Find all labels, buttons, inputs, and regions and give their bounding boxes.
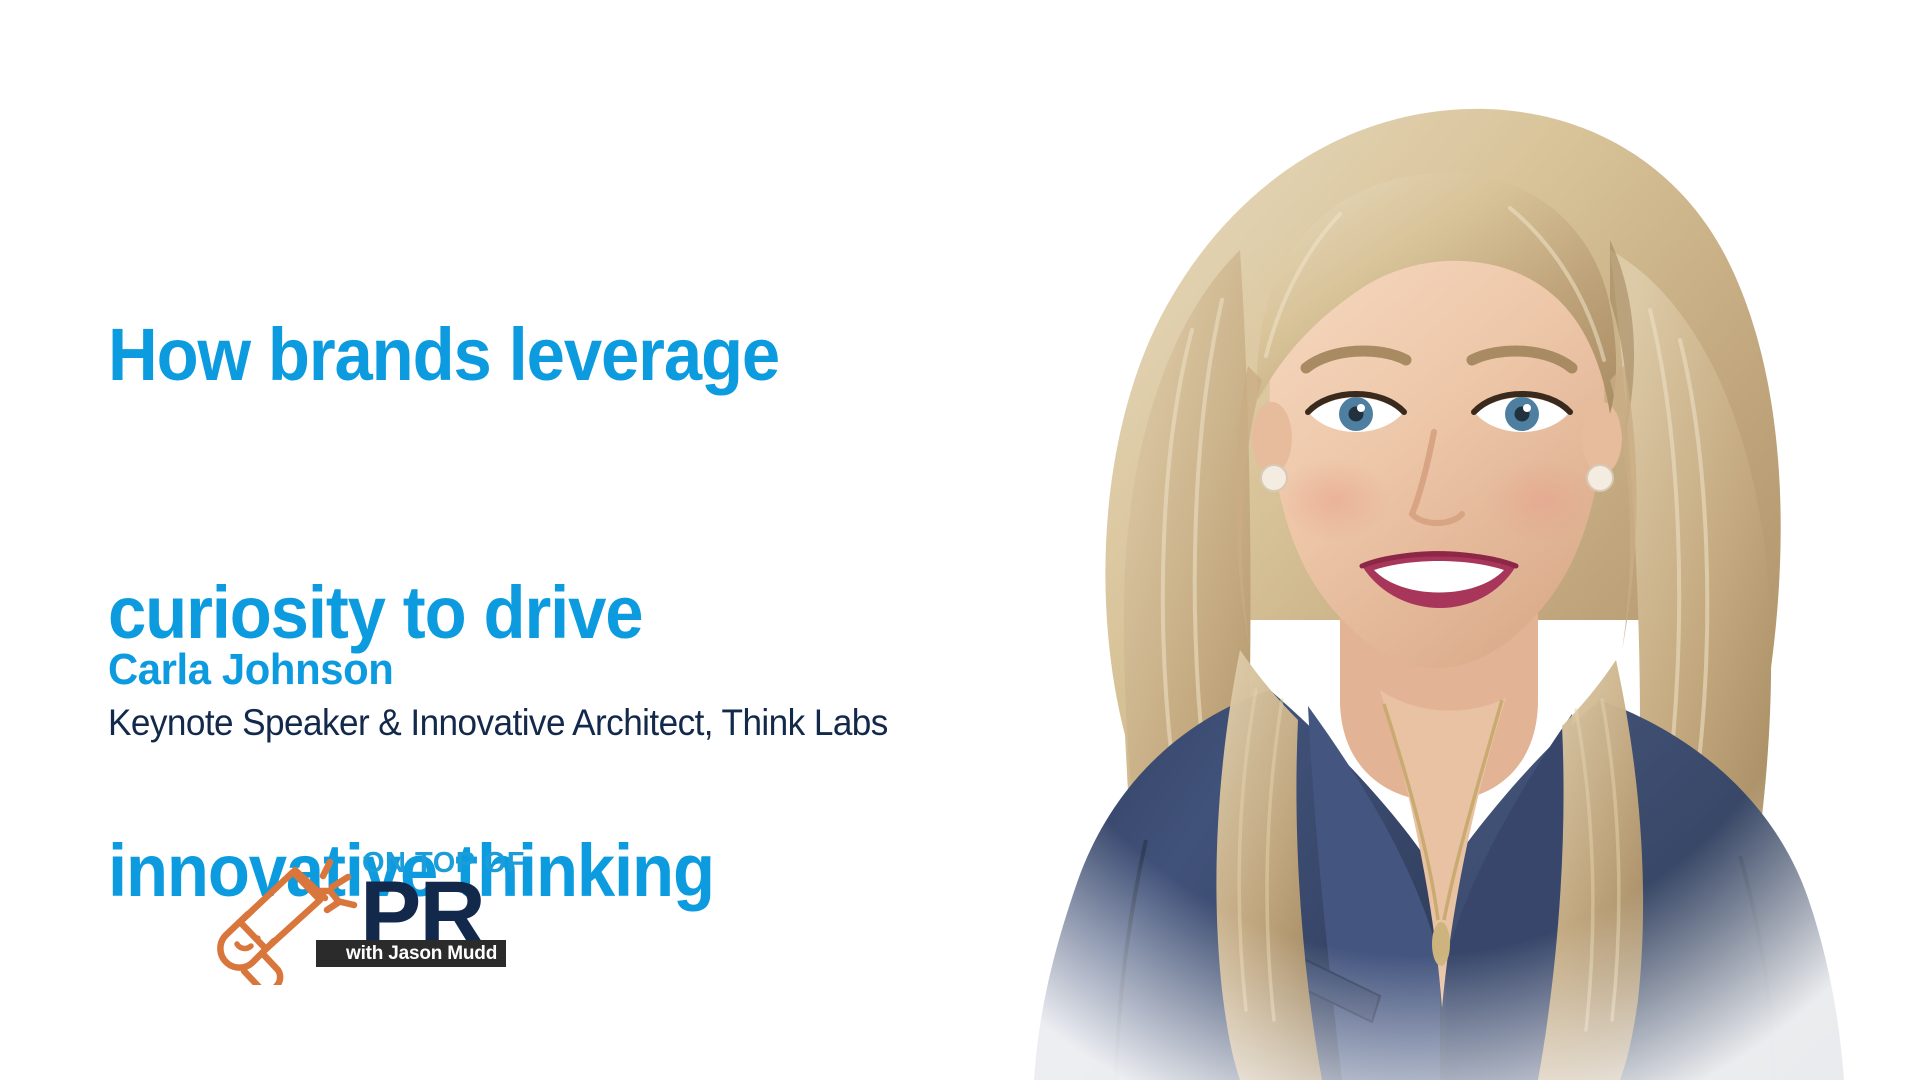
on-top-of-pr-logo[interactable]: ON TOP OF PR with Jason Mudd — [208, 845, 628, 995]
speaker-name: Carla Johnson — [108, 645, 1001, 695]
headline-line-1: How brands leverage — [108, 312, 982, 398]
speaker-title: Keynote Speaker & Innovative Architect, … — [108, 701, 1001, 745]
left-content-column: How brands leverage curiosity to drive i… — [108, 0, 1048, 1080]
headline-line-2: curiosity to drive — [108, 570, 982, 656]
speaker-portrait-photo — [910, 0, 1920, 1080]
speaker-block: Carla Johnson Keynote Speaker & Innovati… — [108, 645, 1048, 745]
presentation-slide: How brands leverage curiosity to drive i… — [0, 0, 1920, 1080]
logo-tagline: with Jason Mudd — [316, 940, 506, 967]
